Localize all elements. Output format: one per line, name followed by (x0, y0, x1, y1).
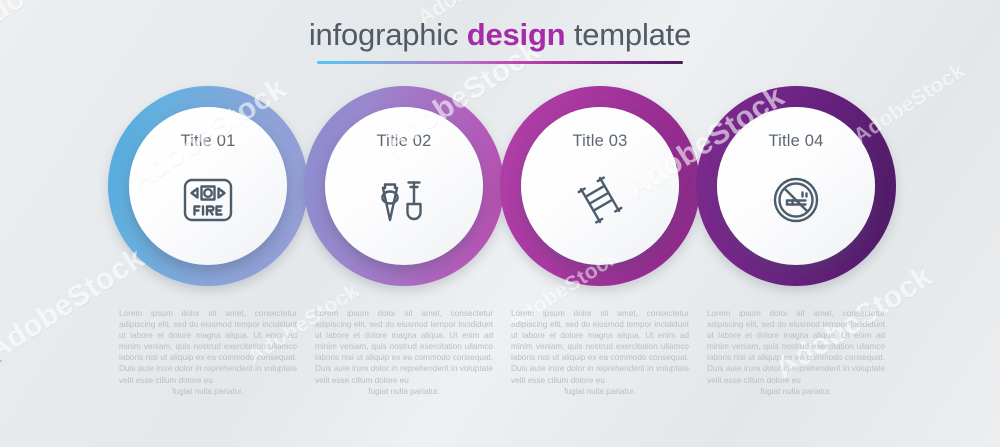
page-title-part2: template (565, 17, 691, 52)
title-underline-rule (317, 61, 683, 64)
page-title-accent: design (467, 17, 566, 52)
description-text-3: Lorem ipsum dolor sit amet, consectetur … (511, 308, 689, 408)
fire-bucket-and-shovel-icon (374, 170, 434, 230)
fire-alarm-box-icon (178, 170, 238, 230)
ladder-icon (570, 170, 630, 230)
description-column-1: Lorem ipsum dolor sit amet, consectetur … (119, 308, 297, 408)
watermark-text: AdobeStock (656, 0, 776, 5)
step-node-1[interactable]: Title 01 (108, 86, 308, 286)
description-column-3: Lorem ipsum dolor sit amet, consectetur … (511, 308, 689, 408)
page-title: infographic design template (0, 18, 1000, 53)
page-title-part1: infographic (309, 17, 467, 52)
infographic-canvas: infographic design template Title 01 (0, 0, 1000, 447)
description-text-1: Lorem ipsum dolor sit amet, consectetur … (119, 308, 297, 408)
description-column-2: Lorem ipsum dolor sit amet, consectetur … (315, 308, 493, 408)
step-node-2[interactable]: Title 02 (304, 86, 504, 286)
step-title-3: Title 03 (500, 132, 700, 151)
step-title-4: Title 04 (696, 132, 896, 151)
stock-id-label: Adobe Stock | #453220523 (0, 288, 2, 441)
description-text-4: Lorem ipsum dolor sit amet, consectetur … (707, 308, 885, 408)
description-column-4: Lorem ipsum dolor sit amet, consectetur … (707, 308, 885, 408)
step-title-2: Title 02 (304, 132, 504, 151)
description-text-2: Lorem ipsum dolor sit amet, consectetur … (315, 308, 493, 408)
steps-row: Title 01 Title 02 (0, 86, 1000, 286)
no-smoking-icon (766, 170, 826, 230)
step-node-3[interactable]: Title 03 (500, 86, 700, 286)
header: infographic design template (0, 18, 1000, 64)
step-node-4[interactable]: Title 04 (696, 86, 896, 286)
step-title-1: Title 01 (108, 132, 308, 151)
